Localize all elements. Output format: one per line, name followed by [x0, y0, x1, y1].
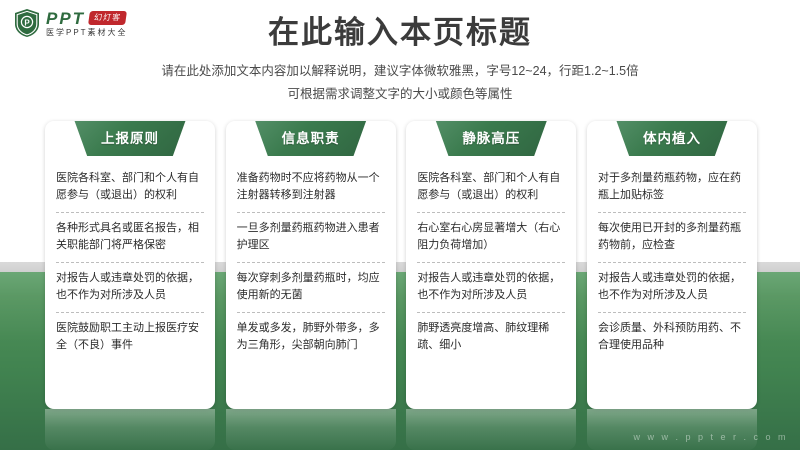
page-title: 在此输入本页标题 [0, 14, 800, 51]
card-1-item-4: 医院鼓励职工主动上报医疗安全（不良）事件 [56, 312, 204, 362]
card-4-title: 体内植入 [643, 132, 701, 146]
page-subtitle: 请在此处添加文本内容加以解释说明，建议字体微软雅黑，字号12~24，行距1.2~… [0, 60, 800, 106]
card-1-banner: 上报原则 [67, 121, 193, 156]
card-2-item-1: 准备药物时不应将药物从一个注射器转移到注射器 [237, 163, 385, 212]
card-3-item-4: 肺野透亮度增高、肺纹理稀疏、细小 [417, 312, 565, 362]
card-2[interactable]: 信息职责 准备药物时不应将药物从一个注射器转移到注射器 一旦多剂量药瓶药物进入患… [226, 121, 396, 409]
card-1-body: 医院各科室、部门和个人有自愿参与（或退出）的权利 各种形式具名或匿名报告，相关职… [45, 163, 215, 362]
page-subtitle-line1: 请在此处添加文本内容加以解释说明，建议字体微软雅黑，字号12~24，行距1.2~… [0, 60, 800, 83]
card-4-body: 对于多剂量药瓶药物，应在药瓶上加贴标签 每次使用已开封的多剂量药瓶药物前，应检查… [587, 163, 757, 362]
card-2-item-2: 一旦多剂量药瓶药物进入患者护理区 [237, 212, 385, 262]
card-3-title: 静脉高压 [462, 132, 520, 146]
footer-watermark: w w w . p p t e r . c o m [633, 433, 788, 442]
card-3-item-2: 右心室右心房显著增大（右心阻力负荷增加） [417, 212, 565, 262]
card-2-banner: 信息职责 [248, 121, 374, 156]
card-2-item-3: 每次穿刺多剂量药瓶时，均应使用新的无菌 [237, 262, 385, 312]
card-2-title: 信息职责 [282, 132, 340, 146]
card-1-item-2: 各种形式具名或匿名报告，相关职能部门将严格保密 [56, 212, 204, 262]
card-1[interactable]: 上报原则 医院各科室、部门和个人有自愿参与（或退出）的权利 各种形式具名或匿名报… [45, 121, 215, 409]
card-1-item-3: 对报告人或违章处罚的依据，也不作为对所涉及人员 [56, 262, 204, 312]
slide-canvas: P PPT 幻灯客 医学PPT素材大全 在此输入本页标题 请在此处添加文本内容加… [0, 0, 800, 450]
page-subtitle-line2: 可根据需求调整文字的大小或颜色等属性 [0, 83, 800, 106]
card-3-item-1: 医院各科室、部门和个人有自愿参与（或退出）的权利 [417, 163, 565, 212]
card-4[interactable]: 体内植入 对于多剂量药瓶药物，应在药瓶上加贴标签 每次使用已开封的多剂量药瓶药物… [587, 121, 757, 409]
card-3-banner: 静脉高压 [428, 121, 554, 156]
card-3-item-3: 对报告人或违章处罚的依据，也不作为对所涉及人员 [417, 262, 565, 312]
card-4-item-1: 对于多剂量药瓶药物，应在药瓶上加贴标签 [598, 163, 746, 212]
card-row: 上报原则 医院各科室、部门和个人有自愿参与（或退出）的权利 各种形式具名或匿名报… [45, 121, 757, 409]
card-4-banner: 体内植入 [609, 121, 735, 156]
card-1-title: 上报原则 [101, 132, 159, 146]
card-2-item-4: 单发或多发，肺野外带多，多为三角形，尖部朝向肺门 [237, 312, 385, 362]
card-2-body: 准备药物时不应将药物从一个注射器转移到注射器 一旦多剂量药瓶药物进入患者护理区 … [226, 163, 396, 362]
card-4-item-3: 对报告人或违章处罚的依据，也不作为对所涉及人员 [598, 262, 746, 312]
card-4-item-2: 每次使用已开封的多剂量药瓶药物前，应检查 [598, 212, 746, 262]
card-4-item-4: 会诊质量、外科预防用药、不合理使用品种 [598, 312, 746, 362]
card-3[interactable]: 静脉高压 医院各科室、部门和个人有自愿参与（或退出）的权利 右心室右心房显著增大… [406, 121, 576, 409]
card-3-body: 医院各科室、部门和个人有自愿参与（或退出）的权利 右心室右心房显著增大（右心阻力… [406, 163, 576, 362]
card-1-item-1: 医院各科室、部门和个人有自愿参与（或退出）的权利 [56, 163, 204, 212]
